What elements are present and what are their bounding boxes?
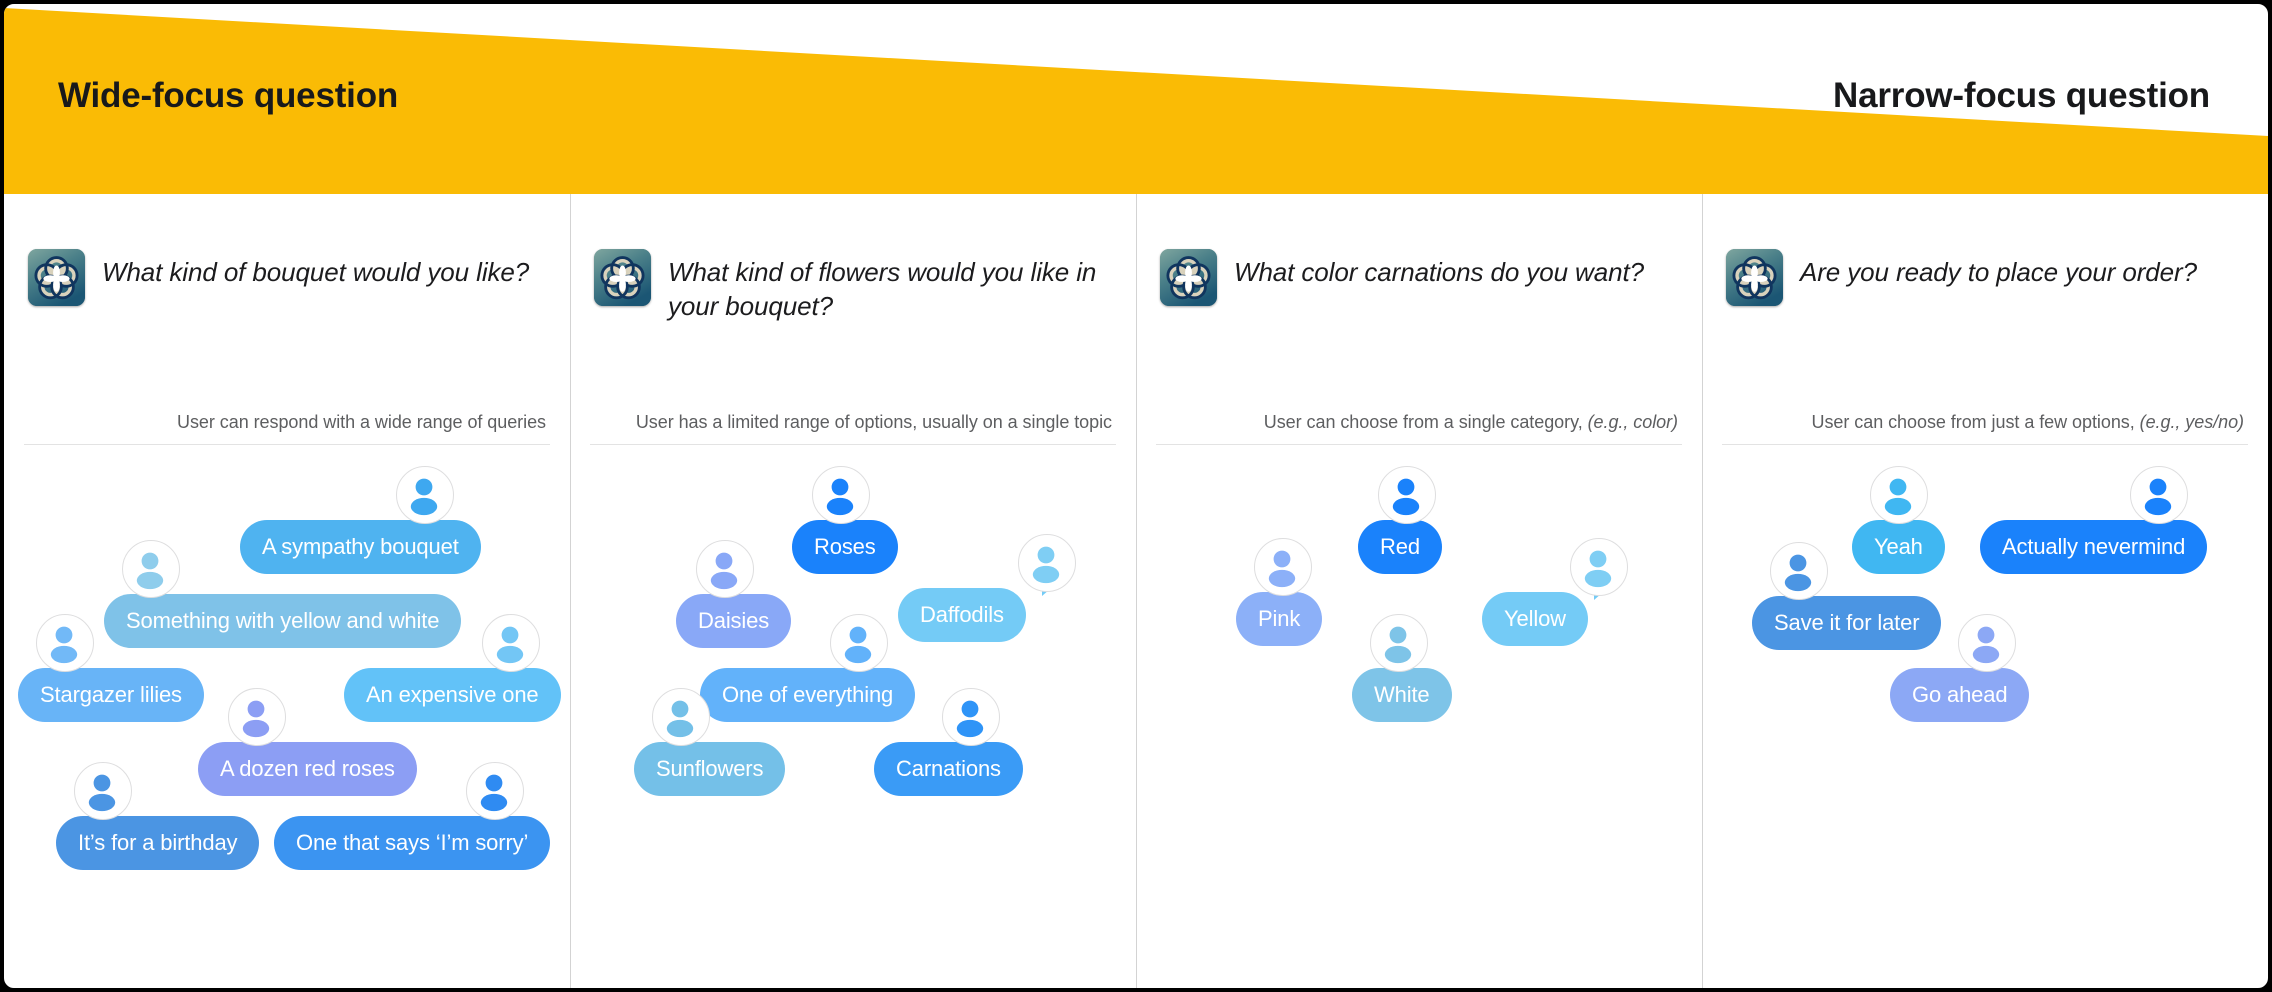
user-avatar-icon bbox=[1770, 542, 1828, 600]
question-column-4: Are you ready to place your order?User c… bbox=[1702, 194, 2268, 988]
person-glyph-icon bbox=[1253, 537, 1311, 595]
user-avatar-icon bbox=[652, 688, 710, 746]
person-glyph-icon bbox=[1377, 465, 1435, 523]
diagram-canvas: Wide-focus question Narrow-focus questio… bbox=[0, 0, 2272, 992]
flower-app-icon bbox=[1160, 249, 1217, 306]
response-bubble-cluster: RedPinkYellowWhite bbox=[1136, 456, 1702, 988]
prompt-text: What color carnations do you want? bbox=[1234, 249, 1644, 289]
prompt-text: Are you ready to place your order? bbox=[1800, 249, 2197, 289]
caption-text: User can choose from a single category, … bbox=[1264, 412, 1678, 432]
caption-text: User can respond with a wide range of qu… bbox=[177, 412, 546, 432]
prompt-text: What kind of bouquet would you like? bbox=[102, 249, 529, 289]
user-avatar-icon bbox=[1018, 534, 1076, 592]
caption-text: User has a limited range of options, usu… bbox=[636, 412, 1112, 432]
user-avatar-icon bbox=[466, 762, 524, 820]
response-bubble[interactable]: Yellow bbox=[1482, 592, 1588, 646]
caption-main: User can choose from a single category, bbox=[1264, 412, 1588, 432]
response-bubble[interactable]: Red bbox=[1358, 520, 1442, 574]
person-glyph-icon bbox=[465, 761, 523, 819]
response-bubble[interactable]: Roses bbox=[792, 520, 898, 574]
user-avatar-icon bbox=[2130, 466, 2188, 524]
question-column-3: What color carnations do you want?User c… bbox=[1136, 194, 1702, 988]
person-glyph-icon bbox=[1369, 613, 1427, 671]
person-glyph-icon bbox=[73, 761, 131, 819]
user-avatar-icon bbox=[1570, 538, 1628, 596]
question-column-1: What kind of bouquet would you like?User… bbox=[4, 194, 570, 988]
user-avatar-icon bbox=[1870, 466, 1928, 524]
response-bubble[interactable]: Actually nevermind bbox=[1980, 520, 2207, 574]
person-glyph-icon bbox=[395, 465, 453, 523]
person-glyph-icon bbox=[941, 687, 999, 745]
response-bubble[interactable]: Save it for later bbox=[1752, 596, 1941, 650]
user-avatar-icon bbox=[1254, 538, 1312, 596]
user-avatar-icon bbox=[122, 540, 180, 598]
caption-main: User can respond with a wide range of qu… bbox=[177, 412, 546, 432]
caption-example: (e.g., yes/no) bbox=[2140, 412, 2244, 432]
caption-divider: User can choose from a single category, … bbox=[1156, 412, 1682, 445]
user-avatar-icon bbox=[942, 688, 1000, 746]
user-avatar-icon bbox=[830, 614, 888, 672]
person-glyph-icon bbox=[1017, 533, 1075, 591]
prompt-row: What color carnations do you want? bbox=[1156, 194, 1682, 314]
user-avatar-icon bbox=[228, 688, 286, 746]
response-bubble[interactable]: Daffodils bbox=[898, 588, 1026, 642]
flower-app-icon bbox=[1726, 249, 1783, 306]
prompt-text: What kind of flowers would you like in y… bbox=[668, 249, 1110, 324]
user-avatar-icon bbox=[1370, 614, 1428, 672]
prompt-row: What kind of flowers would you like in y… bbox=[590, 194, 1116, 324]
response-bubble[interactable]: Sunflowers bbox=[634, 742, 785, 796]
flower-app-icon bbox=[594, 249, 651, 306]
person-glyph-icon bbox=[695, 539, 753, 597]
user-avatar-icon bbox=[36, 614, 94, 672]
person-glyph-icon bbox=[2129, 465, 2187, 523]
caption-divider: User can choose from just a few options,… bbox=[1722, 412, 2248, 445]
response-bubble-cluster: A sympathy bouquetSomething with yellow … bbox=[4, 456, 570, 988]
response-bubble[interactable]: Daisies bbox=[676, 594, 791, 648]
caption-main: User can choose from just a few options, bbox=[1812, 412, 2140, 432]
response-bubble-cluster: YeahActually nevermindSave it for laterG… bbox=[1702, 456, 2268, 988]
prompt-row: Are you ready to place your order? bbox=[1722, 194, 2248, 314]
caption-main: User has a limited range of options, usu… bbox=[636, 412, 1112, 432]
person-glyph-icon bbox=[1769, 541, 1827, 599]
response-bubble[interactable]: Pink bbox=[1236, 592, 1322, 646]
caption-divider: User can respond with a wide range of qu… bbox=[24, 412, 550, 445]
user-avatar-icon bbox=[396, 466, 454, 524]
user-avatar-icon bbox=[812, 466, 870, 524]
response-bubble[interactable]: Yeah bbox=[1852, 520, 1945, 574]
header-label-narrow: Narrow-focus question bbox=[1833, 76, 2210, 116]
response-bubble[interactable]: Carnations bbox=[874, 742, 1023, 796]
response-bubble[interactable]: One that says ‘I’m sorry’ bbox=[274, 816, 550, 870]
person-glyph-icon bbox=[1869, 465, 1927, 523]
response-bubble[interactable]: White bbox=[1352, 668, 1452, 722]
response-bubble[interactable]: Something with yellow and white bbox=[104, 594, 461, 648]
response-bubble[interactable]: An expensive one bbox=[344, 668, 561, 722]
caption-example: (e.g., color) bbox=[1588, 412, 1678, 432]
prompt-row: What kind of bouquet would you like? bbox=[24, 194, 550, 314]
columns-container: What kind of bouquet would you like?User… bbox=[4, 194, 2268, 988]
header-label-wide: Wide-focus question bbox=[58, 76, 398, 116]
person-glyph-icon bbox=[227, 687, 285, 745]
response-bubble[interactable]: A dozen red roses bbox=[198, 742, 417, 796]
caption-text: User can choose from just a few options,… bbox=[1812, 412, 2244, 432]
person-glyph-icon bbox=[481, 613, 539, 671]
response-bubble[interactable]: Go ahead bbox=[1890, 668, 2029, 722]
question-column-2: What kind of flowers would you like in y… bbox=[570, 194, 1136, 988]
user-avatar-icon bbox=[1378, 466, 1436, 524]
response-bubble[interactable]: Stargazer lilies bbox=[18, 668, 204, 722]
user-avatar-icon bbox=[482, 614, 540, 672]
person-glyph-icon bbox=[651, 687, 709, 745]
user-avatar-icon bbox=[696, 540, 754, 598]
user-avatar-icon bbox=[74, 762, 132, 820]
response-bubble[interactable]: A sympathy bouquet bbox=[240, 520, 481, 574]
person-glyph-icon bbox=[1569, 537, 1627, 595]
flower-app-icon bbox=[28, 249, 85, 306]
response-bubble[interactable]: One of everything bbox=[700, 668, 915, 722]
response-bubble[interactable]: It’s for a birthday bbox=[56, 816, 259, 870]
person-glyph-icon bbox=[829, 613, 887, 671]
user-avatar-icon bbox=[1958, 614, 2016, 672]
caption-divider: User has a limited range of options, usu… bbox=[590, 412, 1116, 445]
response-bubble-cluster: RosesDaisiesDaffodilsOne of everythingSu… bbox=[570, 456, 1136, 988]
person-glyph-icon bbox=[811, 465, 869, 523]
person-glyph-icon bbox=[1957, 613, 2015, 671]
header-band: Wide-focus question Narrow-focus questio… bbox=[4, 4, 2268, 194]
person-glyph-icon bbox=[121, 539, 179, 597]
person-glyph-icon bbox=[35, 613, 93, 671]
